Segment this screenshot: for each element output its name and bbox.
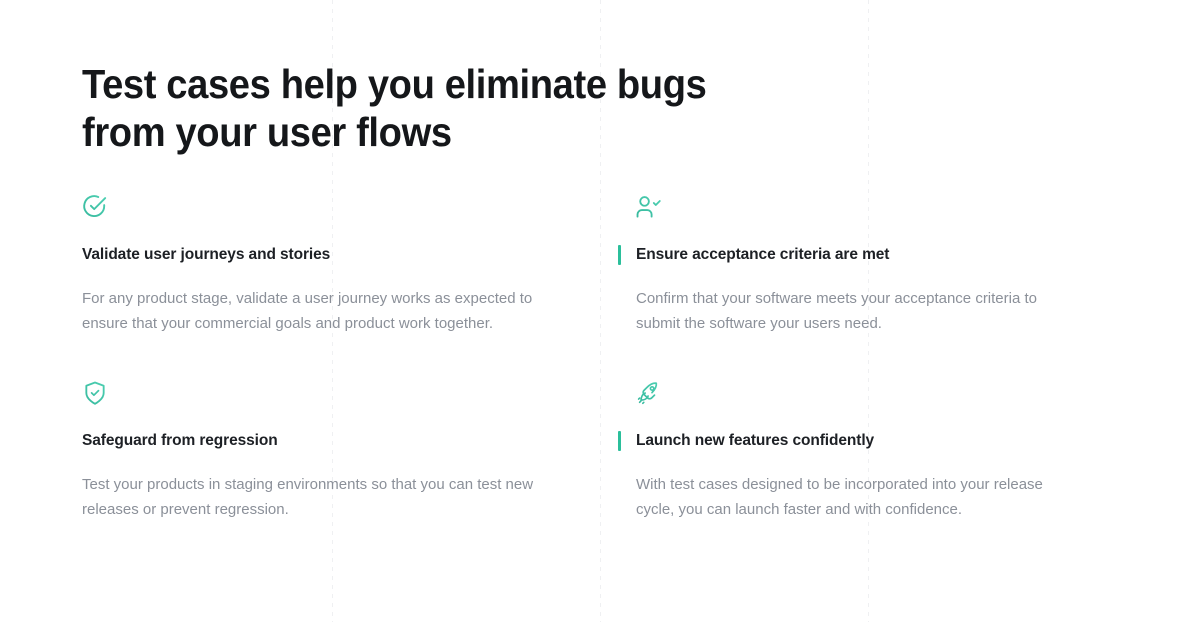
feature-card-launch-features: Launch new features confidently With tes…	[618, 380, 1118, 566]
feature-title: Validate user journeys and stories	[82, 244, 578, 266]
shield-check-icon	[82, 380, 108, 406]
feature-section: Test cases help you eliminate bugs from …	[0, 0, 1200, 630]
feature-card-safeguard-regression: Safeguard from regression Test your prod…	[82, 380, 618, 566]
feature-card-validate-user-journeys: Validate user journeys and stories For a…	[82, 194, 618, 380]
feature-title: Launch new features confidently	[636, 430, 1048, 452]
feature-body: Confirm that your software meets your ac…	[636, 286, 1048, 336]
rocket-icon	[636, 380, 662, 406]
section-headline: Test cases help you eliminate bugs from …	[82, 0, 798, 156]
feature-body: For any product stage, validate a user j…	[82, 286, 578, 336]
feature-title: Safeguard from regression	[82, 430, 578, 452]
feature-card-acceptance-criteria: Ensure acceptance criteria are met Confi…	[618, 194, 1118, 380]
user-check-icon	[636, 194, 662, 220]
feature-title: Ensure acceptance criteria are met	[636, 244, 1048, 266]
circle-check-icon	[82, 194, 108, 220]
feature-body: With test cases designed to be incorpora…	[636, 472, 1048, 522]
feature-grid: Validate user journeys and stories For a…	[82, 194, 1118, 566]
feature-body: Test your products in staging environmen…	[82, 472, 578, 522]
